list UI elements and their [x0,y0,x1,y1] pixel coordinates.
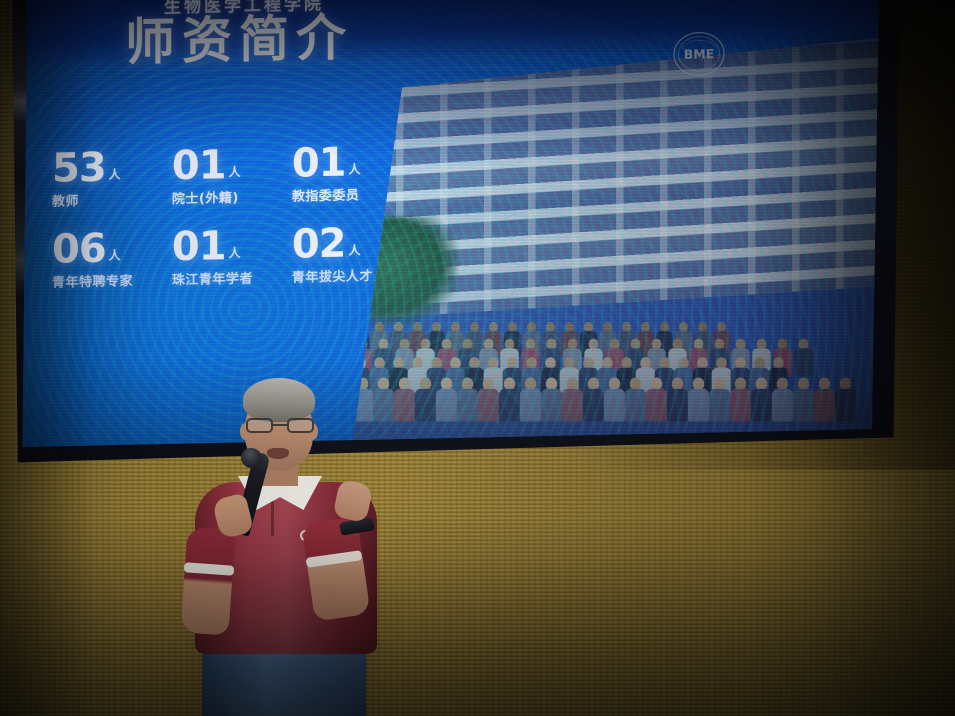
wall-shading [0,0,955,716]
screenshot-stage: 生物医学工程学院 师资简介 BME 53 人 [0,0,955,716]
